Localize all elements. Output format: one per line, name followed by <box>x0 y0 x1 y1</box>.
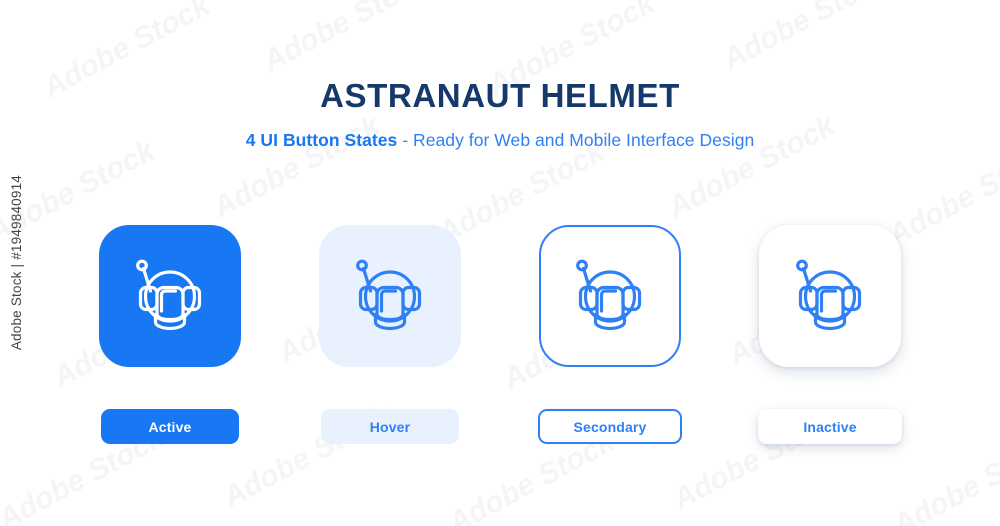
subtitle-strong: 4 UI Button States <box>246 130 398 150</box>
page-subtitle: 4 UI Button States - Ready for Web and M… <box>0 130 1000 151</box>
state-secondary: Secondary <box>530 225 690 444</box>
poster-canvas: Adobe Stock Adobe Stock Adobe Stock Adob… <box>0 0 1000 526</box>
astronaut-helmet-icon <box>120 246 220 346</box>
state-button-active[interactable]: Active <box>101 409 239 444</box>
state-inactive: Inactive <box>750 225 910 444</box>
subtitle-rest: Ready for Web and Mobile Interface Desig… <box>413 130 754 150</box>
astronaut-helmet-icon <box>560 246 660 346</box>
watermark-tile: Adobe Stock <box>718 0 896 77</box>
button-states-row: Active Hover <box>0 225 1000 444</box>
state-button-inactive[interactable]: Inactive <box>758 409 902 444</box>
astronaut-helmet-icon <box>340 246 440 346</box>
heading-block: ASTRANAUT HELMET 4 UI Button States - Re… <box>0 78 1000 151</box>
page-title: ASTRANAUT HELMET <box>0 78 1000 115</box>
icon-card-hover[interactable] <box>319 225 461 367</box>
watermark-tile: Adobe Stock <box>258 0 436 79</box>
state-hover: Hover <box>310 225 470 444</box>
icon-card-secondary[interactable] <box>539 225 681 367</box>
state-active: Active <box>90 225 250 444</box>
subtitle-separator: - <box>397 130 413 150</box>
state-button-secondary[interactable]: Secondary <box>538 409 682 444</box>
icon-card-inactive[interactable] <box>759 225 901 367</box>
state-button-hover[interactable]: Hover <box>321 409 459 444</box>
astronaut-helmet-icon <box>780 246 880 346</box>
icon-card-active[interactable] <box>99 225 241 367</box>
